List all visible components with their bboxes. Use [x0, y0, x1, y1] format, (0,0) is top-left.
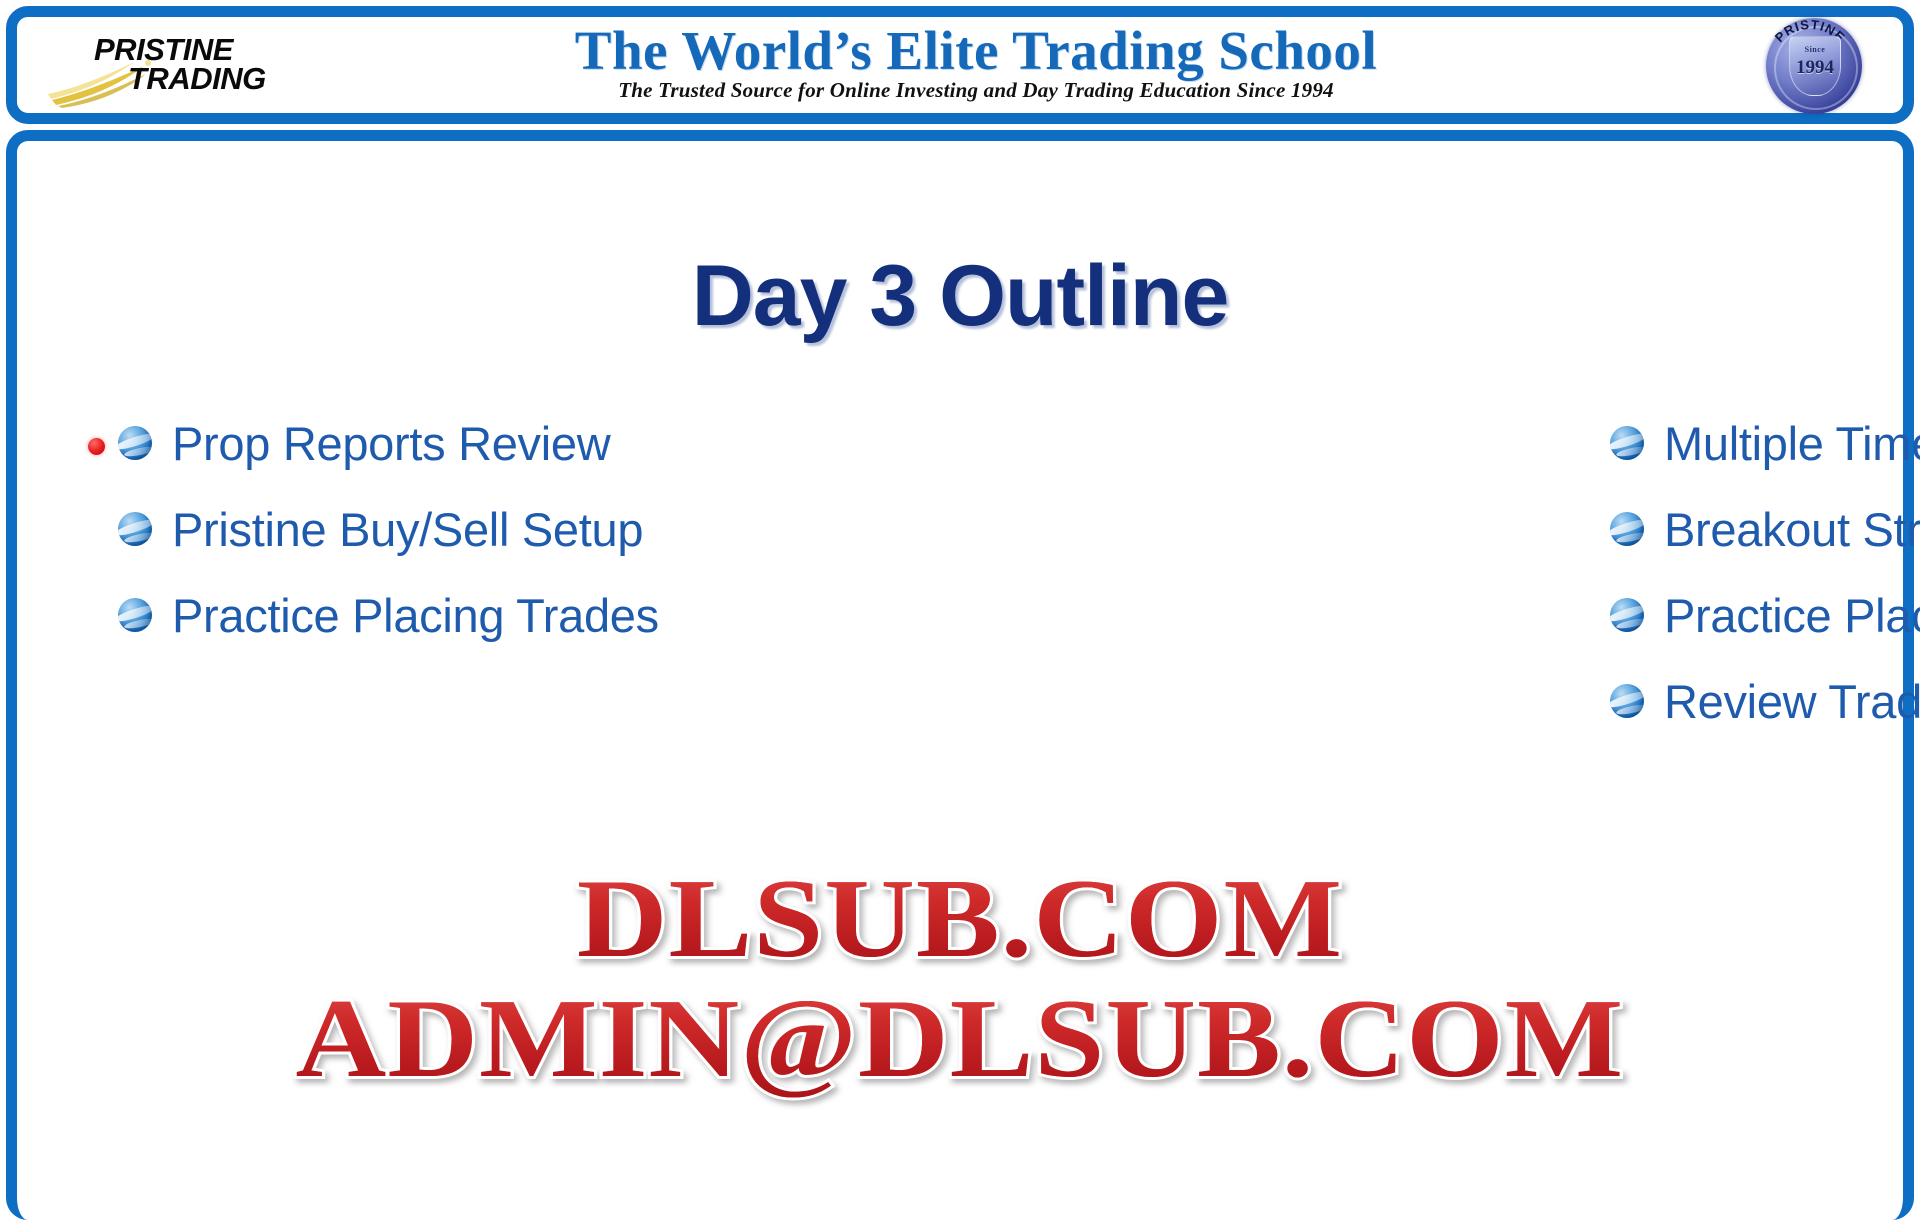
header-subtitle: The Trusted Source for Online Investing … — [306, 78, 1646, 103]
globe-bullet-icon — [118, 598, 152, 632]
list-item-label: Practice Placing Trades — [1664, 588, 1920, 643]
list-item[interactable]: Prop Reports Review — [118, 412, 960, 474]
logo-wordmark: PRISTINE TRADING — [94, 36, 266, 93]
list-item[interactable]: Practice Placing Trades — [1610, 584, 1920, 646]
list-item-label: Multiple Time Frame Analysis — [1664, 416, 1920, 471]
seal-shield: Since 1994 — [1789, 36, 1841, 96]
list-item-label: Practice Placing Trades — [172, 588, 659, 643]
globe-bullet-icon — [1610, 598, 1644, 632]
globe-bullet-icon — [1610, 684, 1644, 718]
outline-column-left: Prop Reports Review Pristine Buy/Sell Se… — [18, 412, 960, 756]
list-item[interactable]: Multiple Time Frame Analysis — [1610, 412, 1920, 474]
seal-year-label: 1994 — [1790, 57, 1840, 79]
globe-bullet-icon — [118, 426, 152, 460]
header-title: The World’s Elite Trading School — [306, 22, 1646, 80]
list-item-label: Review Trading Plan — [1664, 674, 1920, 729]
list-item[interactable]: Practice Placing Trades — [118, 584, 960, 646]
slide-frame: PRISTINE TRADING The World’s Elite Tradi… — [0, 0, 1920, 1211]
globe-bullet-icon — [118, 512, 152, 546]
seal-since-label: Since — [1790, 45, 1840, 54]
list-item[interactable]: Review Trading Plan — [1610, 670, 1920, 732]
logo-line2: TRADING — [128, 65, 266, 94]
pointer-dot-cursor — [88, 438, 105, 455]
globe-bullet-icon — [1610, 512, 1644, 546]
list-item-label: Pristine Buy/Sell Setup — [172, 502, 643, 557]
pristine-since-1994-seal: PRISTINE Since 1994 — [1762, 14, 1866, 118]
outline-column-right: Multiple Time Frame Analysis Breakout St… — [960, 412, 1920, 756]
outline-columns: Prop Reports Review Pristine Buy/Sell Se… — [18, 412, 1902, 756]
page-title: Day 3 Outline — [18, 247, 1902, 346]
header-banner: PRISTINE TRADING The World’s Elite Tradi… — [6, 6, 1914, 124]
list-item[interactable]: Pristine Buy/Sell Setup — [118, 498, 960, 560]
list-item[interactable]: Breakout Strategy — [1610, 498, 1920, 560]
slide-content: Day 3 Outline Prop Reports Review Pristi… — [18, 142, 1902, 1202]
list-item-label: Prop Reports Review — [172, 416, 610, 471]
globe-bullet-icon — [1610, 426, 1644, 460]
header-title-block: The World’s Elite Trading School The Tru… — [306, 12, 1646, 103]
pristine-trading-logo: PRISTINE TRADING — [46, 20, 306, 112]
list-item-label: Breakout Strategy — [1664, 502, 1920, 557]
